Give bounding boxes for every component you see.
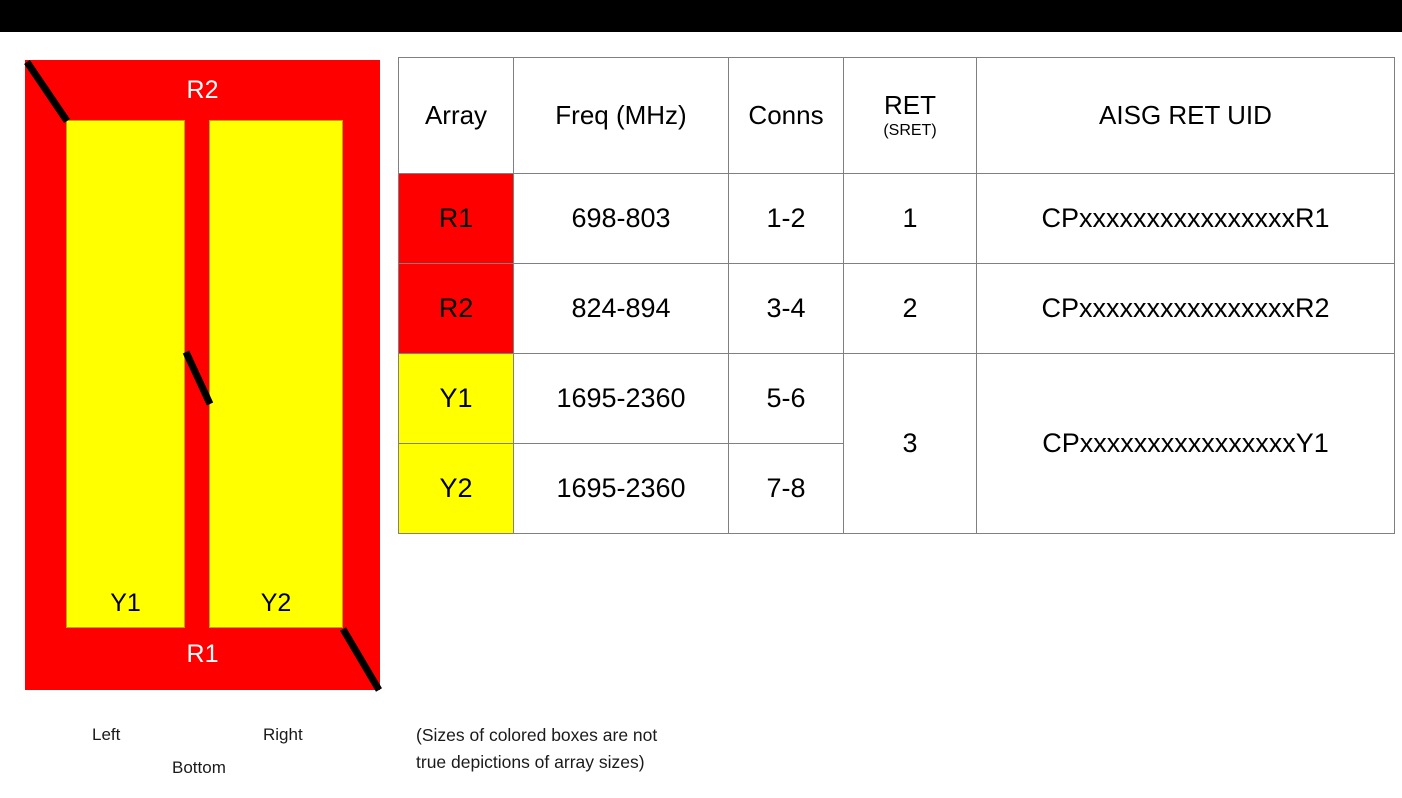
cell-conns-y1: 5-6 — [729, 354, 844, 444]
header-array: Array — [399, 58, 514, 174]
header-ret-sub: (SRET) — [848, 121, 972, 140]
cell-uid-r2: CPxxxxxxxxxxxxxxxxR2 — [977, 264, 1395, 354]
cell-array-r2: R2 — [399, 264, 514, 354]
header-conns: Conns — [729, 58, 844, 174]
cell-array-r1: R1 — [399, 174, 514, 264]
cell-freq-y2: 1695-2360 — [514, 444, 729, 534]
cell-array-y1: Y1 — [399, 354, 514, 444]
cell-uid-y-group: CPxxxxxxxxxxxxxxxxY1 — [977, 354, 1395, 534]
header-ret-main: RET — [848, 91, 972, 120]
diagram-label-y2: Y2 — [209, 589, 343, 618]
array-spec-table: Array Freq (MHz) Conns RET (SRET) AISG R… — [398, 57, 1395, 534]
table-header-row: Array Freq (MHz) Conns RET (SRET) AISG R… — [399, 58, 1395, 174]
orientation-label-right: Right — [263, 725, 303, 745]
cell-conns-r2: 3-4 — [729, 264, 844, 354]
header-ret: RET (SRET) — [844, 58, 977, 174]
cell-freq-r2: 824-894 — [514, 264, 729, 354]
header-freq: Freq (MHz) — [514, 58, 729, 174]
cell-freq-y1: 1695-2360 — [514, 354, 729, 444]
table-row: Y1 1695-2360 5-6 3 CPxxxxxxxxxxxxxxxxY1 — [399, 354, 1395, 444]
cell-uid-r1: CPxxxxxxxxxxxxxxxxR1 — [977, 174, 1395, 264]
diagram-label-r1: R1 — [25, 640, 380, 669]
diagram-label-y1: Y1 — [66, 589, 185, 618]
top-black-bar — [0, 0, 1402, 32]
antenna-array-diagram: R2 R1 Y1 Y2 — [0, 32, 400, 712]
table-row: R2 824-894 3-4 2 CPxxxxxxxxxxxxxxxxR2 — [399, 264, 1395, 354]
cell-freq-r1: 698-803 — [514, 174, 729, 264]
yellow-array-left — [66, 120, 185, 628]
diagram-label-r2: R2 — [25, 76, 380, 105]
cell-ret-r2: 2 — [844, 264, 977, 354]
header-uid: AISG RET UID — [977, 58, 1395, 174]
cell-array-y2: Y2 — [399, 444, 514, 534]
cell-conns-r1: 1-2 — [729, 174, 844, 264]
diagram-note-line-1: (Sizes of colored boxes are not — [416, 722, 846, 749]
yellow-array-right — [209, 120, 343, 628]
cell-ret-r1: 1 — [844, 174, 977, 264]
orientation-label-bottom: Bottom — [172, 758, 226, 778]
cell-conns-y2: 7-8 — [729, 444, 844, 534]
array-spec-table-wrapper: Array Freq (MHz) Conns RET (SRET) AISG R… — [398, 57, 1394, 534]
diagram-note: (Sizes of colored boxes are not true dep… — [416, 722, 846, 776]
table-row: R1 698-803 1-2 1 CPxxxxxxxxxxxxxxxxR1 — [399, 174, 1395, 264]
orientation-label-left: Left — [92, 725, 120, 745]
cell-ret-y-group: 3 — [844, 354, 977, 534]
diagram-note-line-2: true depictions of array sizes) — [416, 749, 846, 776]
